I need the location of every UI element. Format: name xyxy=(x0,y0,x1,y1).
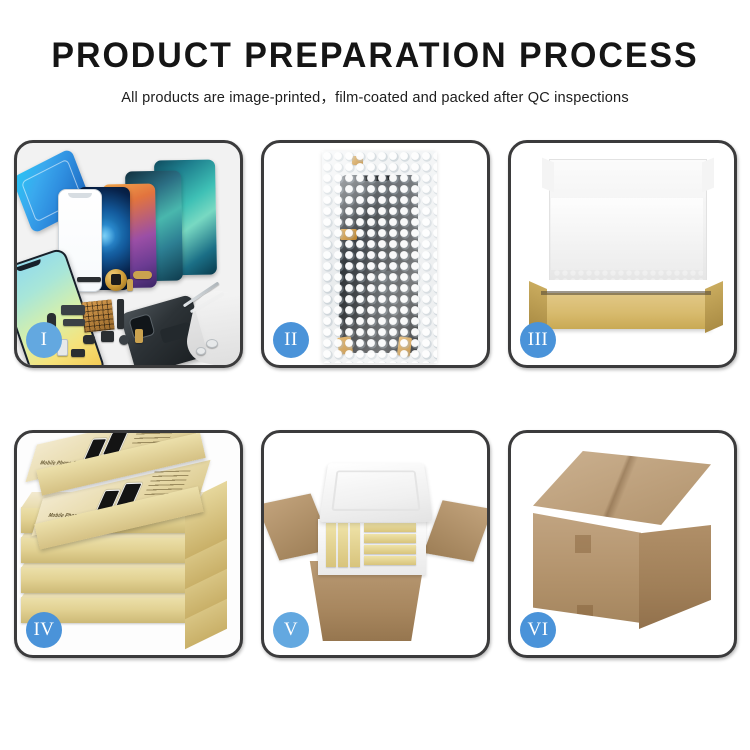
small-part-2 xyxy=(133,271,152,279)
process-step-panel-3[interactable]: III xyxy=(508,140,737,368)
small-part-7 xyxy=(117,299,124,329)
small-part-15 xyxy=(196,347,206,355)
foam-box-lid xyxy=(319,463,433,522)
box-rim xyxy=(541,291,711,295)
chip-array-part xyxy=(82,300,115,333)
step-badge-5: V xyxy=(273,612,309,648)
small-part-14 xyxy=(206,339,218,348)
process-step-panel-5[interactable]: V xyxy=(261,430,490,658)
step-badge-3: III xyxy=(520,322,556,358)
header: PRODUCT PREPARATION PROCESS All products… xyxy=(0,0,750,107)
packing-tape-tab-2 xyxy=(577,605,593,621)
stacked-box-2 xyxy=(21,567,193,593)
step-badge-1-label: I xyxy=(41,329,48,351)
step-badge-3-label: III xyxy=(528,329,548,351)
small-part-1 xyxy=(77,277,101,282)
kraft-package-4 xyxy=(364,523,416,532)
foam-box-body xyxy=(318,519,426,575)
page-title: PRODUCT PREPARATION PROCESS xyxy=(11,38,739,75)
bubble-wrap-bag xyxy=(322,151,437,363)
box-stack: Mobile Phone Spare Parts Mobile Phone Sp… xyxy=(21,447,239,643)
process-step-panel-6[interactable]: VI xyxy=(508,430,737,658)
step-badge-6: VI xyxy=(520,612,556,648)
kraft-package-7 xyxy=(364,556,416,565)
foam-sheet xyxy=(551,198,703,270)
carton-side-face xyxy=(639,525,711,629)
kraft-package-1 xyxy=(326,523,336,567)
small-part-8 xyxy=(101,331,114,342)
small-part-5 xyxy=(63,319,85,326)
step-badge-1: I xyxy=(26,322,62,358)
carton-top-face xyxy=(533,451,711,525)
step-badge-5-label: V xyxy=(284,619,298,641)
small-part-9 xyxy=(83,335,95,344)
page-subtitle: All products are image-printed，film-coat… xyxy=(0,86,750,107)
carton-front-face xyxy=(533,513,641,623)
step-badge-4-label: IV xyxy=(33,619,54,641)
packing-tape-tab-1 xyxy=(575,535,591,553)
step-badge-2-label: II xyxy=(284,329,298,351)
kraft-package-3 xyxy=(350,523,360,567)
kraft-box-body xyxy=(541,293,711,329)
carton-flap-right xyxy=(423,500,487,561)
process-step-panel-2[interactable]: II xyxy=(261,140,490,368)
kraft-package-6 xyxy=(364,545,416,554)
camera-ring-part xyxy=(105,269,127,291)
step-badge-2: II xyxy=(273,322,309,358)
step-badge-4: IV xyxy=(26,612,62,648)
small-part-11 xyxy=(71,349,85,357)
product-preparation-infographic: PRODUCT PREPARATION PROCESS All products… xyxy=(0,0,750,750)
small-part-4 xyxy=(61,305,85,315)
kraft-package-5 xyxy=(364,534,416,543)
kraft-package-2 xyxy=(338,523,348,567)
step-badge-6-label: VI xyxy=(527,619,548,641)
process-step-panel-4[interactable]: Mobile Phone Spare Parts Mobile Phone Sp… xyxy=(14,430,243,658)
small-part-3 xyxy=(127,279,133,291)
process-step-grid: I II xyxy=(14,140,736,658)
process-step-panel-1[interactable]: I xyxy=(14,140,243,368)
bag-sheen xyxy=(322,151,437,363)
small-part-13 xyxy=(135,329,143,343)
small-part-12 xyxy=(119,335,129,345)
